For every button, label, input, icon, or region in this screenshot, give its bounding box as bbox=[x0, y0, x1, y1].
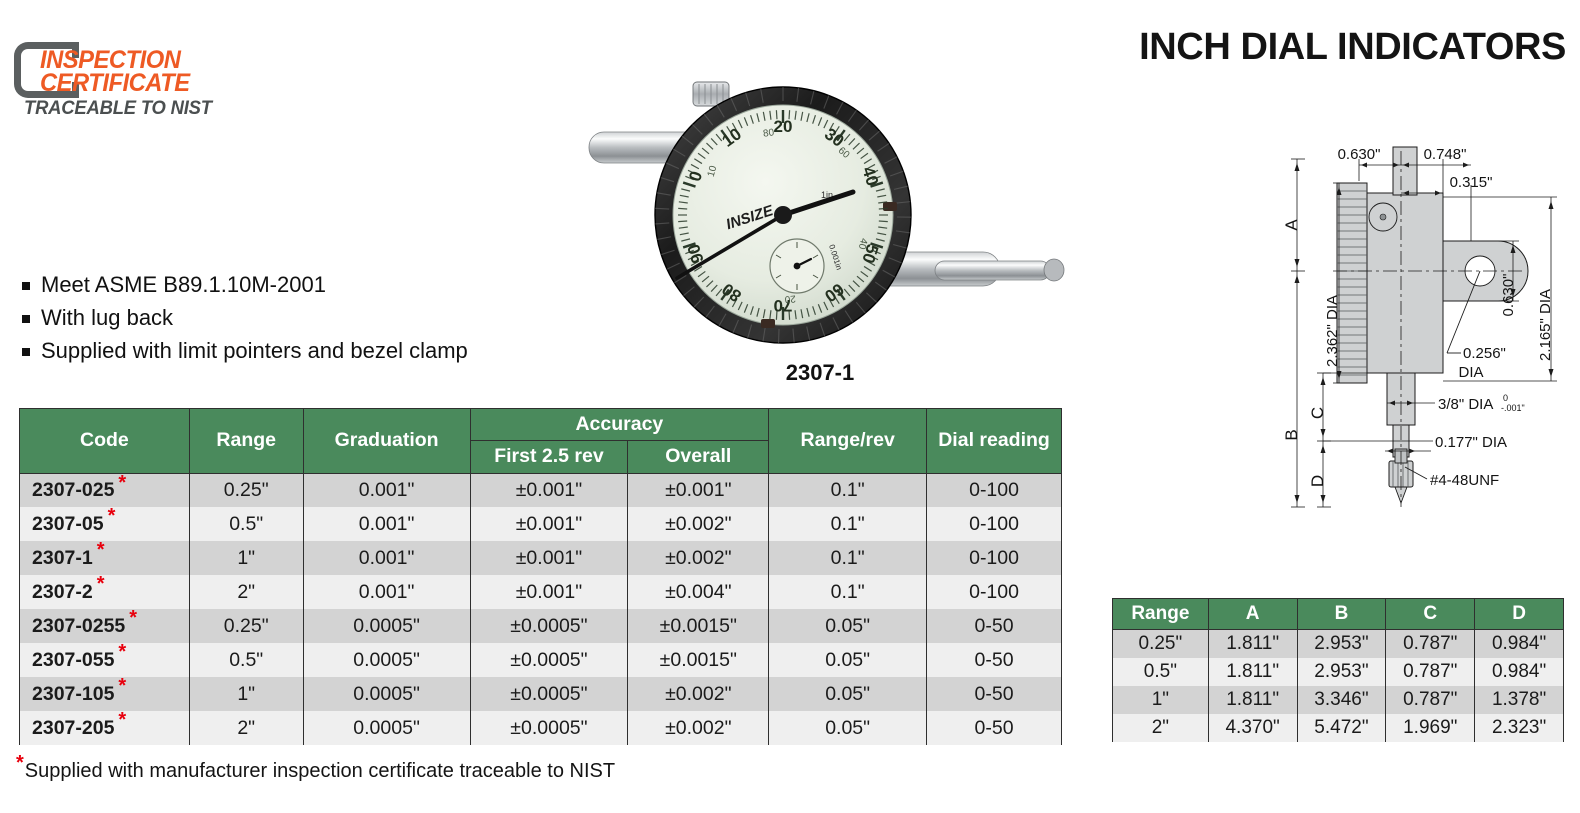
col-header-dial-reading: Dial reading bbox=[927, 409, 1062, 474]
square-bullet-icon bbox=[22, 348, 30, 356]
dim-stem-tol-upper-label: 0 bbox=[1503, 393, 1508, 403]
dim-cell-a: 1.811" bbox=[1208, 658, 1297, 686]
cell-dial-reading: 0-100 bbox=[927, 541, 1062, 575]
cell-graduation: 0.001" bbox=[303, 473, 470, 507]
cell-range: 1" bbox=[189, 677, 303, 711]
nist-asterisk-icon: * bbox=[97, 573, 105, 595]
cell-accuracy-first: ±0.001" bbox=[470, 473, 628, 507]
logo-subtitle-traceable: TRACEABLE TO NIST bbox=[24, 98, 212, 120]
code-label: 2307-05 bbox=[32, 513, 104, 535]
code-label: 2307-1 bbox=[32, 547, 93, 569]
dim-stem-dia-label: 3/8" DIA bbox=[1438, 396, 1493, 413]
dim-cell-b: 5.472" bbox=[1297, 714, 1386, 742]
cell-range-per-rev: 0.05" bbox=[769, 609, 927, 643]
cell-range-per-rev: 0.05" bbox=[769, 677, 927, 711]
dim-letter-a: A bbox=[1282, 219, 1301, 231]
dim-cell-d: 0.984" bbox=[1475, 630, 1564, 659]
feature-label: Meet ASME B89.1.10M-2001 bbox=[41, 272, 326, 298]
cell-accuracy-overall: ±0.002" bbox=[628, 677, 769, 711]
cell-code: 2307-105* bbox=[20, 677, 190, 711]
nist-asterisk-icon: * bbox=[97, 539, 105, 561]
cell-dial-reading: 0-100 bbox=[927, 507, 1062, 541]
cell-dial-reading: 0-100 bbox=[927, 575, 1062, 609]
code-label: 2307-0255 bbox=[32, 615, 125, 637]
dim-cell-c: 0.787" bbox=[1386, 686, 1475, 714]
dim-col-header-c: C bbox=[1386, 599, 1475, 630]
specifications-table: Code Range Graduation Accuracy Range/rev… bbox=[19, 408, 1062, 745]
dim-cell-c: 0.787" bbox=[1386, 630, 1475, 659]
dim-col-header-a: A bbox=[1208, 599, 1297, 630]
dim-table-row: 0.25"1.811"2.953"0.787"0.984" bbox=[1113, 630, 1564, 659]
table-row: 2307-205*2"0.0005"±0.0005"±0.002"0.05"0-… bbox=[20, 711, 1062, 745]
cell-graduation: 0.001" bbox=[303, 541, 470, 575]
table-row: 2307-025*0.25"0.001"±0.001"±0.001"0.1"0-… bbox=[20, 473, 1062, 507]
dim-col-header-range: Range bbox=[1113, 599, 1209, 630]
dim-cell-range: 0.25" bbox=[1113, 630, 1209, 659]
cell-accuracy-overall: ±0.0015" bbox=[628, 643, 769, 677]
dim-col-header-b: B bbox=[1297, 599, 1386, 630]
table-row: 2307-105*1"0.0005"±0.0005"±0.002"0.05"0-… bbox=[20, 677, 1062, 711]
nist-asterisk-icon: * bbox=[118, 675, 126, 697]
cell-code: 2307-1* bbox=[20, 541, 190, 575]
dim-lug-bore-label: 0.256" bbox=[1463, 345, 1506, 362]
table-row: 2307-2*2"0.001"±0.001"±0.004"0.1"0-100 bbox=[20, 575, 1062, 609]
dimensions-table: Range A B C D 0.25"1.811"2.953"0.787"0.9… bbox=[1112, 598, 1564, 742]
product-caption: 2307-1 bbox=[565, 360, 1075, 386]
code-label: 2307-025 bbox=[32, 479, 114, 501]
square-bullet-icon bbox=[22, 282, 30, 290]
cell-graduation: 0.001" bbox=[303, 507, 470, 541]
cell-range-per-rev: 0.1" bbox=[769, 473, 927, 507]
cell-range: 2" bbox=[189, 575, 303, 609]
feature-label: With lug back bbox=[41, 305, 173, 331]
dim-cell-b: 2.953" bbox=[1297, 630, 1386, 659]
cell-range-per-rev: 0.05" bbox=[769, 711, 927, 745]
dim-stem-offset-label: 0.315" bbox=[1450, 174, 1493, 191]
cell-range: 1" bbox=[189, 541, 303, 575]
nist-asterisk-icon: * bbox=[118, 472, 126, 494]
dim-back-dia-label: 2.165" DIA bbox=[1537, 289, 1554, 361]
cell-accuracy-first: ±0.0005" bbox=[470, 677, 628, 711]
cell-code: 2307-205* bbox=[20, 711, 190, 745]
limit-pointer-right bbox=[883, 202, 897, 211]
cell-accuracy-overall: ±0.002" bbox=[628, 507, 769, 541]
cell-accuracy-first: ±0.001" bbox=[470, 541, 628, 575]
col-header-code: Code bbox=[20, 409, 190, 474]
code-label: 2307-205 bbox=[32, 717, 114, 739]
dim-cell-b: 2.953" bbox=[1297, 658, 1386, 686]
cell-dial-reading: 0-50 bbox=[927, 643, 1062, 677]
dim-table-row: 2"4.370"5.472"1.969"2.323" bbox=[1113, 714, 1564, 742]
footnote: *Supplied with manufacturer inspection c… bbox=[16, 760, 615, 783]
cell-accuracy-first: ±0.0005" bbox=[470, 643, 628, 677]
nist-asterisk-icon: * bbox=[118, 641, 126, 663]
feature-label: Supplied with limit pointers and bezel c… bbox=[41, 338, 468, 364]
dim-thread-label: #4-48UNF bbox=[1430, 472, 1499, 489]
dial-numeral: 20 bbox=[774, 117, 793, 136]
cell-dial-reading: 0-50 bbox=[927, 677, 1062, 711]
dim-cell-range: 1" bbox=[1113, 686, 1209, 714]
dim-cell-a: 1.811" bbox=[1208, 630, 1297, 659]
feature-list: Meet ASME B89.1.10M-2001 With lug back S… bbox=[22, 272, 492, 371]
list-item: Supplied with limit pointers and bezel c… bbox=[22, 338, 492, 364]
cell-accuracy-overall: ±0.002" bbox=[628, 711, 769, 745]
dim-table-header-row: Range A B C D bbox=[1113, 599, 1564, 630]
technical-dimension-drawing: 0.630" 0.748" 0.315" 2.362" DIA 0.630" 2… bbox=[1275, 145, 1580, 520]
table-row: 2307-05*0.5"0.001"±0.001"±0.002"0.1"0-10… bbox=[20, 507, 1062, 541]
dim-table-row: 0.5"1.811"2.953"0.787"0.984" bbox=[1113, 658, 1564, 686]
dim-cell-b: 3.346" bbox=[1297, 686, 1386, 714]
table-row: 2307-0255*0.25"0.0005"±0.0005"±0.0015"0.… bbox=[20, 609, 1062, 643]
cell-graduation: 0.0005" bbox=[303, 711, 470, 745]
dim-letter-d: D bbox=[1308, 475, 1327, 487]
cell-graduation: 0.001" bbox=[303, 575, 470, 609]
cell-accuracy-first: ±0.0005" bbox=[470, 711, 628, 745]
cell-code: 2307-055* bbox=[20, 643, 190, 677]
inspection-certificate-logo: INSPECTION CERTIFICATE TRACEABLE TO NIST bbox=[14, 38, 344, 128]
cell-accuracy-overall: ±0.001" bbox=[628, 473, 769, 507]
cell-range: 2" bbox=[189, 711, 303, 745]
dim-cell-c: 0.787" bbox=[1386, 658, 1475, 686]
dim-lug-bore-sub-label: DIA bbox=[1458, 364, 1483, 381]
cell-code: 2307-025* bbox=[20, 473, 190, 507]
dim-cell-range: 0.5" bbox=[1113, 658, 1209, 686]
cell-range-per-rev: 0.1" bbox=[769, 507, 927, 541]
cell-dial-reading: 0-50 bbox=[927, 609, 1062, 643]
col-header-accuracy-overall: Overall bbox=[628, 441, 769, 473]
cell-graduation: 0.0005" bbox=[303, 643, 470, 677]
cell-accuracy-first: ±0.0005" bbox=[470, 609, 628, 643]
dim-cell-d: 0.984" bbox=[1475, 658, 1564, 686]
col-header-accuracy-first: First 2.5 rev bbox=[470, 441, 628, 473]
cell-graduation: 0.0005" bbox=[303, 677, 470, 711]
table-row: 2307-1*1"0.001"±0.001"±0.002"0.1"0-100 bbox=[20, 541, 1062, 575]
dim-top-left-label: 0.630" bbox=[1338, 146, 1381, 163]
dim-table-row: 1"1.811"3.346"0.787"1.378" bbox=[1113, 686, 1564, 714]
dim-cell-d: 2.323" bbox=[1475, 714, 1564, 742]
dim-letter-c: C bbox=[1308, 407, 1327, 419]
dim-letter-b: B bbox=[1282, 429, 1301, 440]
dim-col-header-d: D bbox=[1475, 599, 1564, 630]
square-bullet-icon bbox=[22, 315, 30, 323]
cell-range: 0.5" bbox=[189, 643, 303, 677]
dim-cell-d: 1.378" bbox=[1475, 686, 1564, 714]
col-header-graduation: Graduation bbox=[303, 409, 470, 474]
cell-accuracy-overall: ±0.004" bbox=[628, 575, 769, 609]
nist-asterisk-icon: * bbox=[129, 607, 137, 629]
cell-code: 2307-0255* bbox=[20, 609, 190, 643]
col-header-range-per-rev: Range/rev bbox=[769, 409, 927, 474]
footnote-asterisk: * bbox=[16, 752, 24, 774]
list-item: Meet ASME B89.1.10M-2001 bbox=[22, 272, 492, 298]
col-header-accuracy: Accuracy bbox=[470, 409, 769, 441]
dim-bezel-dia-label: 2.362" DIA bbox=[1324, 295, 1341, 367]
dim-tip-dia-label: 0.177" DIA bbox=[1435, 434, 1507, 451]
cell-accuracy-first: ±0.001" bbox=[470, 507, 628, 541]
dim-stem-tol-lower-label: -.001" bbox=[1501, 403, 1525, 413]
limit-pointer-bottom bbox=[761, 319, 775, 328]
footnote-text: Supplied with manufacturer inspection ce… bbox=[25, 760, 615, 782]
dial-inner-numeral: 80 bbox=[762, 127, 775, 140]
logo-line-certificate: CERTIFICATE bbox=[40, 69, 190, 98]
cell-dial-reading: 0-50 bbox=[927, 711, 1062, 745]
dim-cell-range: 2" bbox=[1113, 714, 1209, 742]
cell-accuracy-first: ±0.001" bbox=[470, 575, 628, 609]
cell-range: 0.5" bbox=[189, 507, 303, 541]
dial-inner-numeral: 20 bbox=[784, 293, 796, 305]
cell-code: 2307-05* bbox=[20, 507, 190, 541]
dim-cell-c: 1.969" bbox=[1386, 714, 1475, 742]
cell-range-per-rev: 0.05" bbox=[769, 643, 927, 677]
code-label: 2307-2 bbox=[32, 581, 93, 603]
cell-accuracy-overall: ±0.002" bbox=[628, 541, 769, 575]
nist-asterisk-icon: * bbox=[108, 505, 116, 527]
dim-cell-a: 1.811" bbox=[1208, 686, 1297, 714]
cell-range: 0.25" bbox=[189, 473, 303, 507]
product-photo-dial-indicator: 20 30 40 50 60 70 80 90 0 10 80 60 40 20… bbox=[565, 80, 1075, 350]
cell-code: 2307-2* bbox=[20, 575, 190, 609]
col-header-range: Range bbox=[189, 409, 303, 474]
table-row: 2307-055*0.5"0.0005"±0.0005"±0.0015"0.05… bbox=[20, 643, 1062, 677]
list-item: With lug back bbox=[22, 305, 492, 331]
nist-asterisk-icon: * bbox=[118, 709, 126, 731]
code-label: 2307-105 bbox=[32, 683, 114, 705]
cell-graduation: 0.0005" bbox=[303, 609, 470, 643]
cell-range: 0.25" bbox=[189, 609, 303, 643]
code-label: 2307-055 bbox=[32, 649, 114, 671]
cell-range-per-rev: 0.1" bbox=[769, 575, 927, 609]
page-title: INCH DIAL INDICATORS bbox=[1139, 26, 1566, 69]
cell-accuracy-overall: ±0.0015" bbox=[628, 609, 769, 643]
cell-range-per-rev: 0.1" bbox=[769, 541, 927, 575]
dim-cell-a: 4.370" bbox=[1208, 714, 1297, 742]
dim-top-right-label: 0.748" bbox=[1424, 146, 1467, 163]
table-header-row-1: Code Range Graduation Accuracy Range/rev… bbox=[20, 409, 1062, 441]
cell-dial-reading: 0-100 bbox=[927, 473, 1062, 507]
dim-lug-hole-label: 0.630" bbox=[1500, 274, 1517, 317]
revolution-counter-subdial bbox=[770, 239, 824, 293]
